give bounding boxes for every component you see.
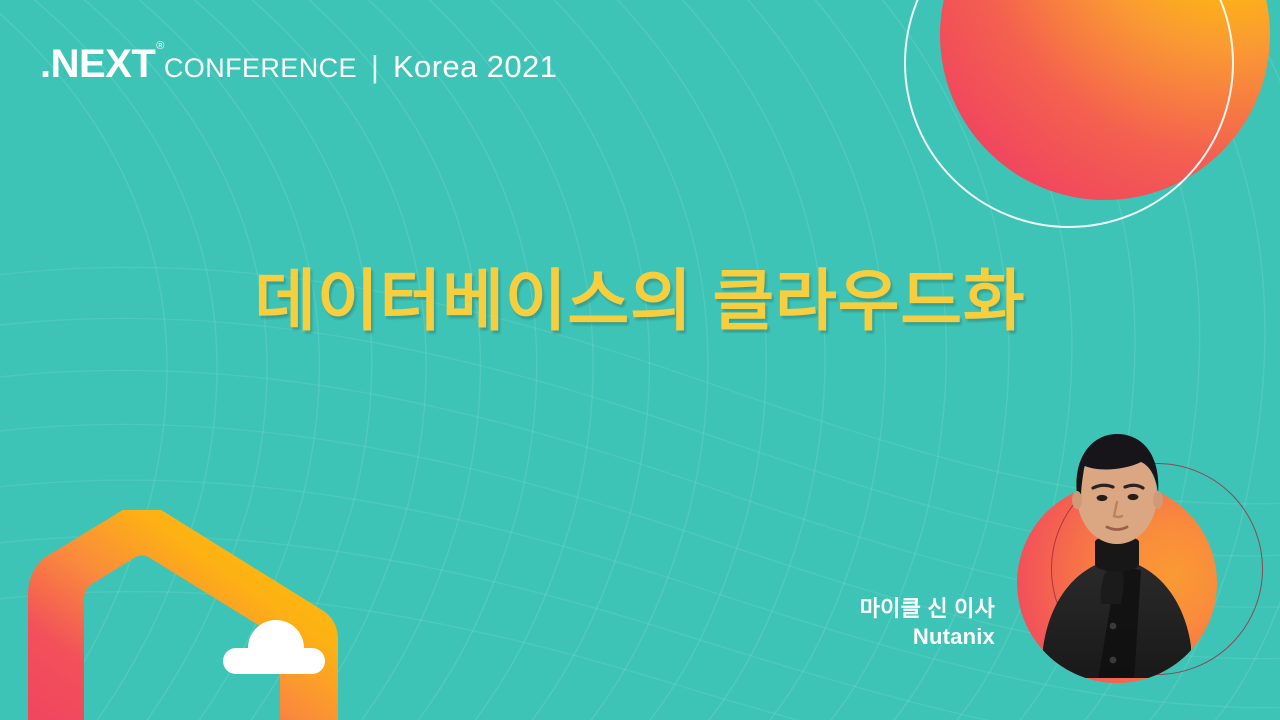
dotnext-logo-text: .NEXT [40,42,155,86]
nutanix-arch-mark [22,510,342,720]
speaker-avatar [1013,408,1243,678]
avatar-portrait-icon [1013,408,1243,678]
gradient-circle-icon [940,0,1270,200]
dotnext-logo: .NEXT® [40,44,163,84]
registered-trademark-icon: ® [156,40,164,52]
white-outline-circle-icon [904,0,1234,228]
conference-word: CONFERENCE [164,55,357,82]
speaker-info: 마이클 신 이사 Nutanix [860,595,995,650]
brand-header: .NEXT® CONFERENCE | Korea 2021 [40,44,557,84]
conference-edition: Korea 2021 [393,51,557,82]
speaker-name: 마이클 신 이사 [860,595,995,623]
speaker-organization: Nutanix [860,623,995,651]
top-right-decoration [940,0,1280,270]
header-divider: | [371,51,379,82]
slide-title: 데이터베이스의 클라우드화 [0,262,1280,342]
cloud-icon [223,620,325,674]
title-slide: .NEXT® CONFERENCE | Korea 2021 데이터베이스의 클… [0,0,1280,720]
